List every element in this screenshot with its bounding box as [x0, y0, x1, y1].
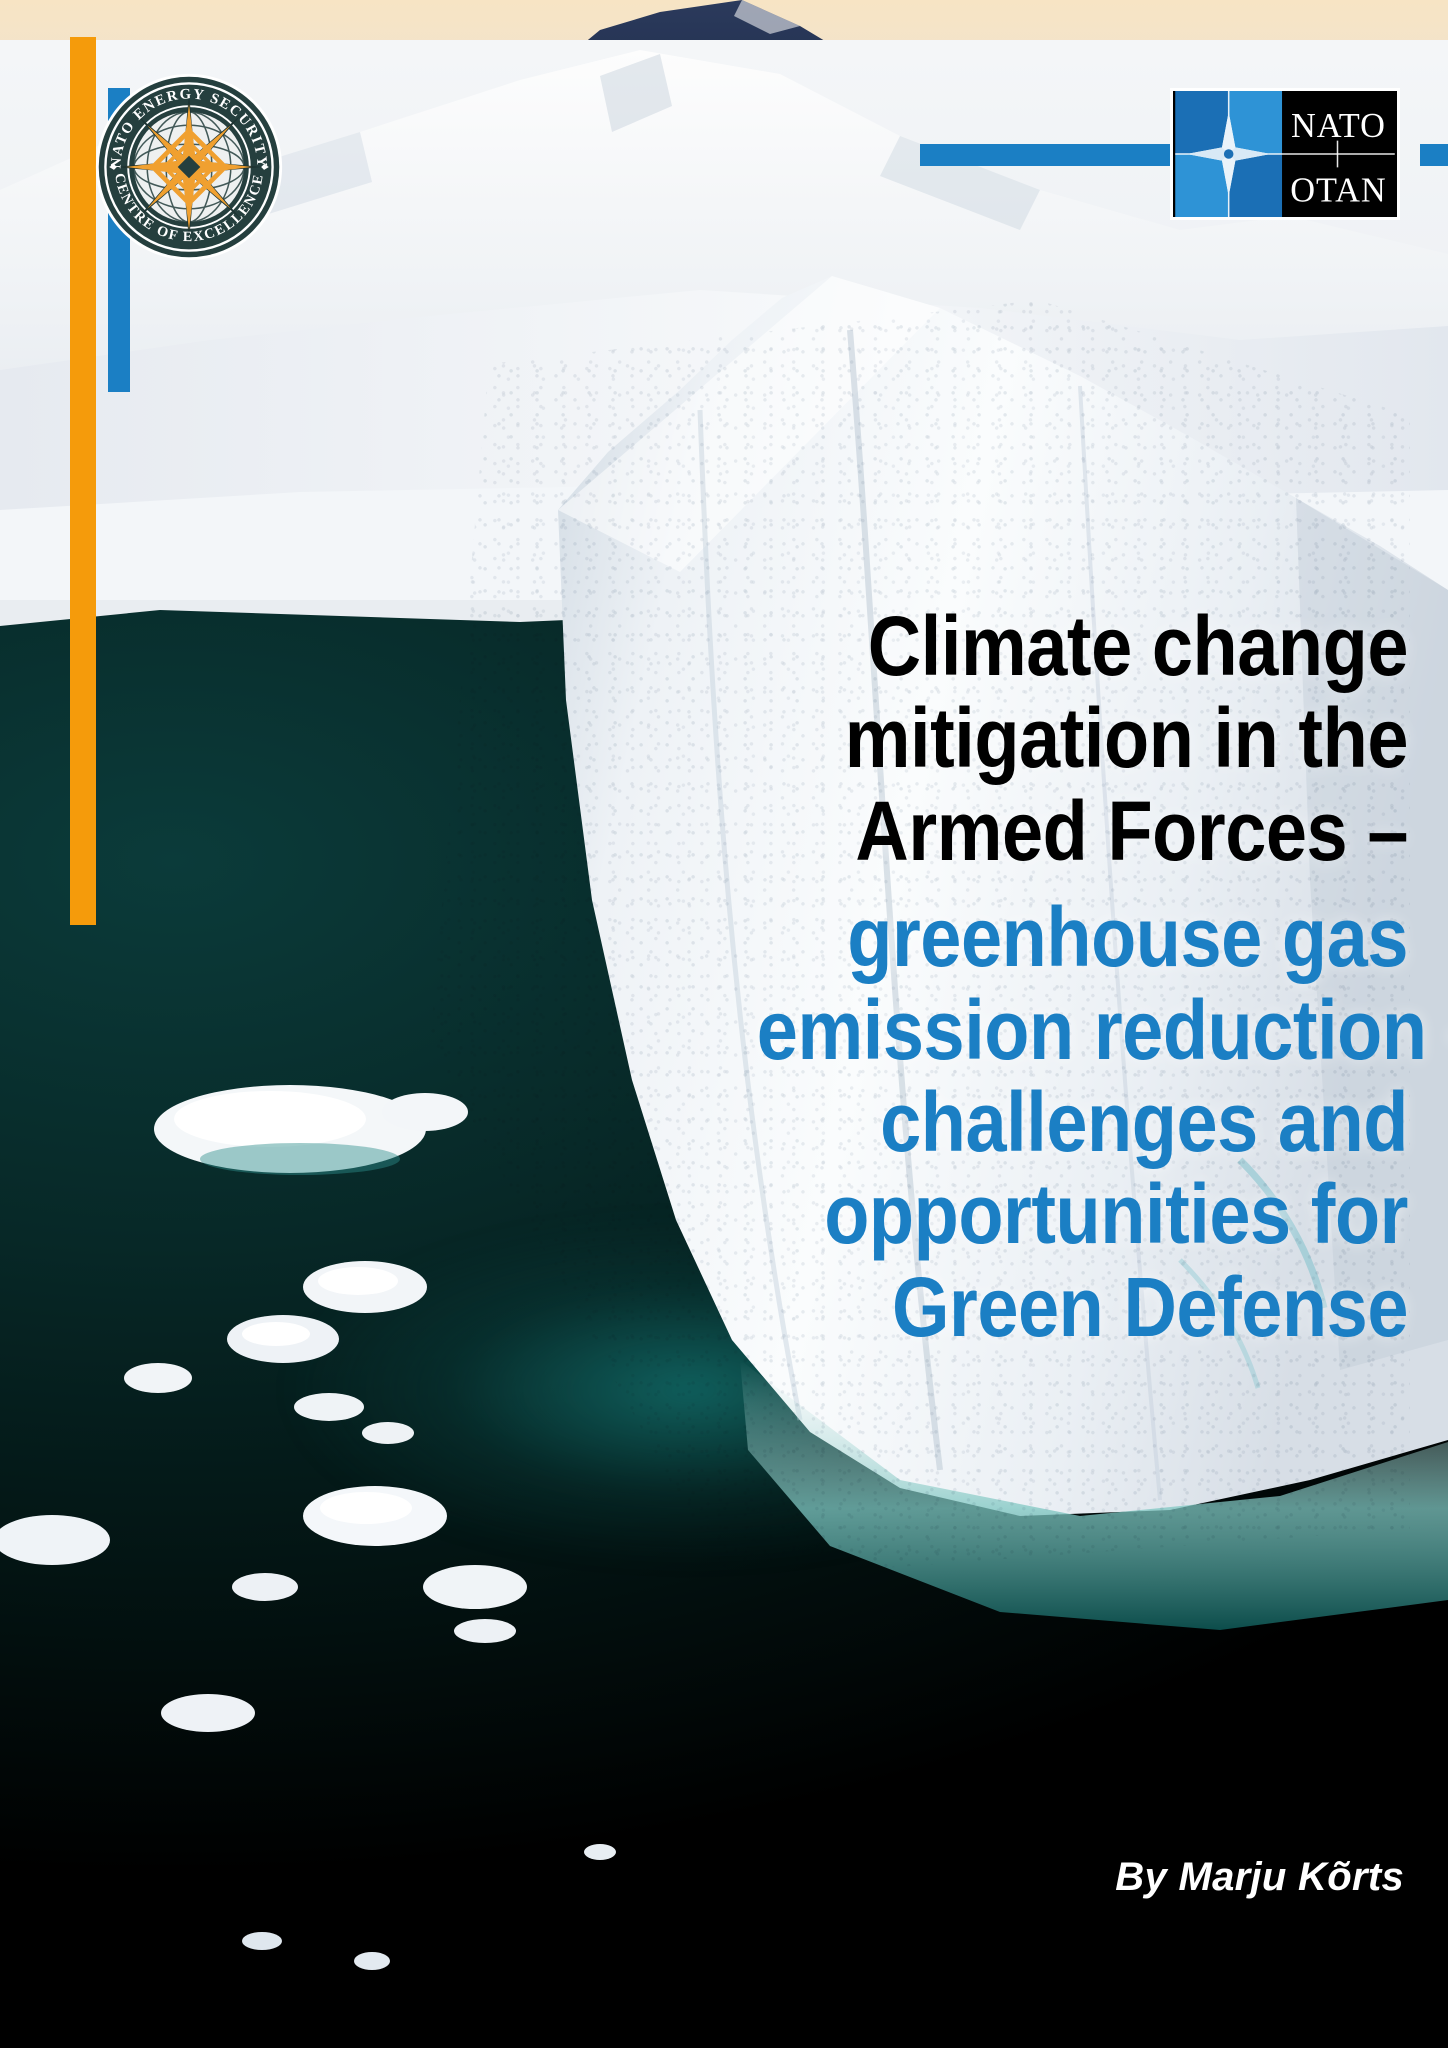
author-byline: By Marju Kõrts [1115, 1855, 1404, 1900]
subtitle-line-2: emission reduction – [757, 984, 1408, 1076]
subtitle-line-4: opportunities for [757, 1168, 1408, 1260]
subtitle-line-3: challenges and [757, 1076, 1408, 1168]
escoe-seal-logo: NATO ENERGY SECURITY CENTRE OF EXCELLENC… [94, 72, 284, 262]
ice-floe [240, 1930, 284, 1952]
ice-floe [352, 1950, 392, 1972]
ice-floe [224, 1310, 342, 1368]
nato-wordmark-line1: NATO [1291, 107, 1386, 145]
title-line-2: mitigation in the [757, 692, 1408, 784]
ice-floe [158, 1690, 258, 1736]
ice-floe [420, 1560, 530, 1614]
cover-page: NATO ENERGY SECURITY CENTRE OF EXCELLENC… [0, 0, 1448, 2048]
ice-floe [300, 1256, 430, 1318]
nato-rule-right [1420, 144, 1448, 166]
ice-floe [300, 1480, 450, 1552]
ice-floe [582, 1842, 618, 1862]
nato-emblem-group: NATO OTAN [920, 108, 1448, 204]
ice-floe [0, 1510, 120, 1570]
ice-floe [380, 1090, 470, 1134]
title-subtitle-gap [668, 877, 1408, 891]
nato-otan-emblem: NATO OTAN [1170, 88, 1400, 220]
title-line-1: Climate change [757, 600, 1408, 692]
title-line-3: Armed Forces – [757, 785, 1408, 877]
ice-floe [292, 1390, 366, 1424]
subtitle-line-1: greenhouse gas [757, 891, 1408, 983]
nato-wordmark-line2: OTAN [1290, 172, 1387, 210]
cover-title-block: Climate change mitigation in the Armed F… [668, 600, 1408, 1353]
subtitle-line-5: Green Defense [757, 1261, 1408, 1353]
ice-floe [230, 1570, 300, 1604]
ice-floe [452, 1616, 518, 1646]
ice-floe [122, 1360, 194, 1396]
orange-accent-bar [70, 37, 96, 925]
ice-floe [360, 1420, 416, 1446]
